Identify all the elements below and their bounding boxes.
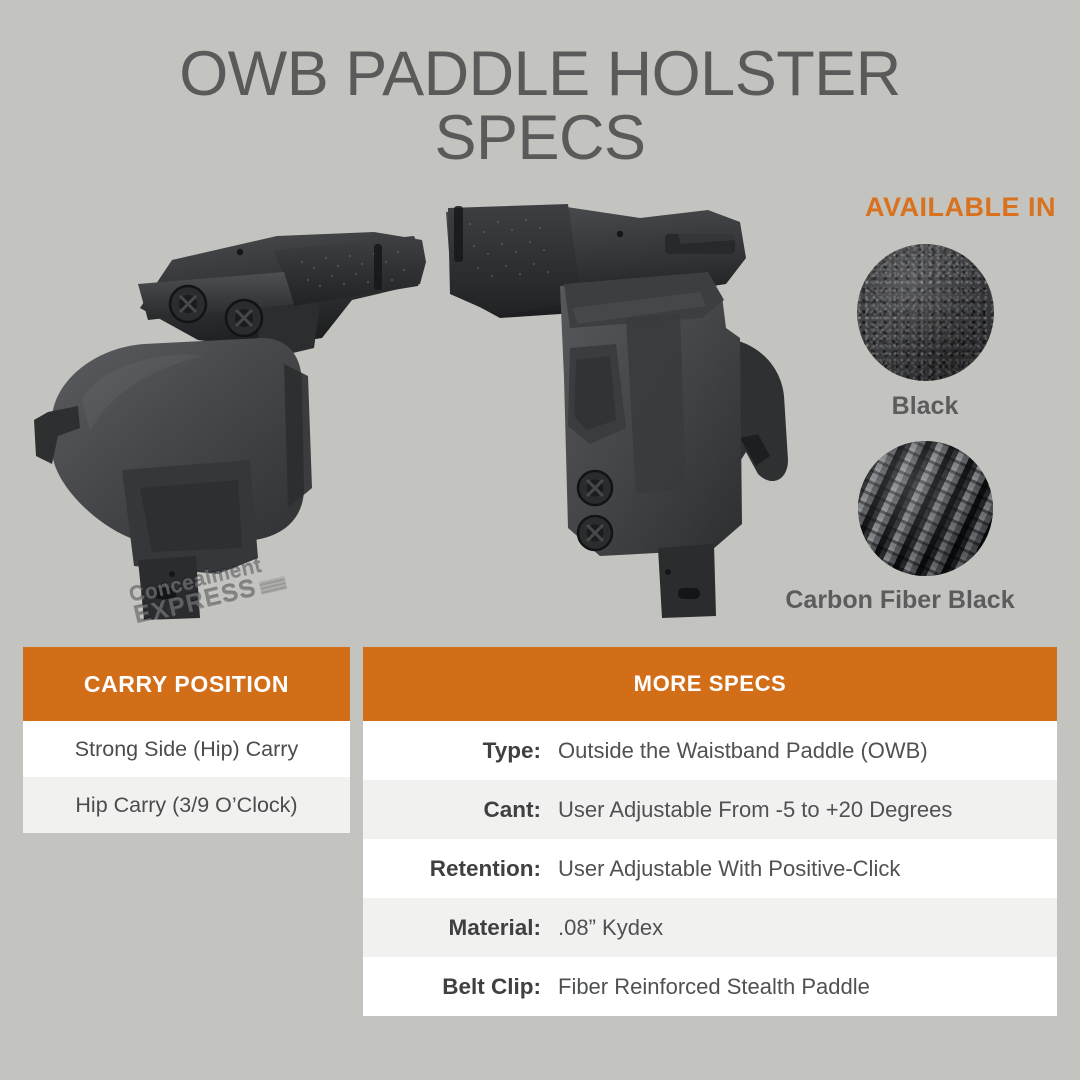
spec-value: .08” Kydex	[549, 915, 663, 941]
swatch-label-carbon-fiber: Carbon Fiber Black	[740, 586, 1060, 615]
holster-rear-image	[440, 188, 840, 636]
carbon-fiber-texture-swatch[interactable]	[858, 441, 993, 576]
swatch-sheen	[858, 441, 993, 576]
infographic-canvas: OWB PADDLE HOLSTER SPECS	[0, 0, 1080, 1080]
holster-front-image: Concealment EXPRESS	[22, 188, 442, 636]
spec-label: Cant:	[363, 797, 549, 823]
spec-label: Material:	[363, 915, 549, 941]
swatch-label-black: Black	[800, 392, 1050, 421]
carry-position-table: CARRY POSITION Strong Side (Hip) Carry H…	[23, 647, 350, 833]
page-title: OWB PADDLE HOLSTER SPECS	[0, 42, 1080, 171]
table-row: Strong Side (Hip) Carry	[23, 721, 350, 777]
spec-value: Outside the Waistband Paddle (OWB)	[549, 738, 928, 764]
spec-label: Retention:	[363, 856, 549, 882]
table-row: Cant: User Adjustable From -5 to +20 Deg…	[363, 780, 1057, 839]
table-row: Type: Outside the Waistband Paddle (OWB)	[363, 721, 1057, 780]
spec-value: Fiber Reinforced Stealth Paddle	[549, 974, 870, 1000]
page-title-line-2: SPECS	[0, 106, 1080, 170]
black-kydex-texture-swatch[interactable]	[857, 244, 994, 381]
page-title-line-1: OWB PADDLE HOLSTER	[179, 39, 900, 109]
table-row: Retention: User Adjustable With Positive…	[363, 839, 1057, 898]
spec-value: User Adjustable From -5 to +20 Degrees	[549, 797, 952, 823]
table-row: Material: .08” Kydex	[363, 898, 1057, 957]
kydex-shell	[560, 272, 742, 618]
spec-label: Belt Clip:	[363, 974, 549, 1000]
table-row: Hip Carry (3/9 O’Clock)	[23, 777, 350, 833]
table-row: Belt Clip: Fiber Reinforced Stealth Padd…	[363, 957, 1057, 1016]
carry-position-header: CARRY POSITION	[23, 647, 350, 721]
carry-position-value: Strong Side (Hip) Carry	[75, 737, 298, 762]
more-specs-header: MORE SPECS	[363, 647, 1057, 721]
spec-label: Type:	[363, 738, 549, 764]
swatch-sheen	[857, 244, 994, 381]
available-in-heading: AVAILABLE IN	[865, 192, 1056, 223]
more-specs-table: MORE SPECS Type: Outside the Waistband P…	[363, 647, 1057, 1016]
spec-value: User Adjustable With Positive-Click	[549, 856, 900, 882]
carry-position-value: Hip Carry (3/9 O’Clock)	[75, 793, 297, 818]
